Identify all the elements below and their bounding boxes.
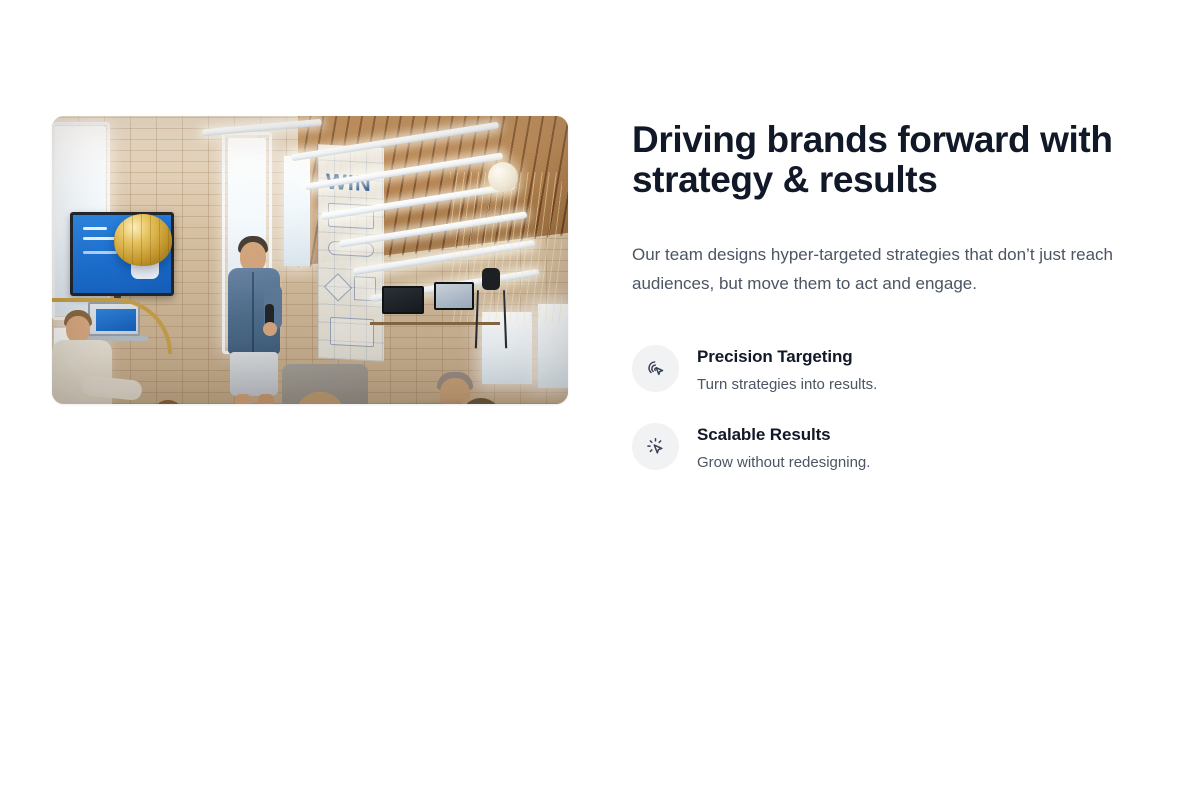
page-title: Driving brands forward with strategy & r… [632,120,1122,200]
hero-image-artwork: WIN [52,116,568,404]
feature-item-scalable-results: Scalable Results Grow without redesignin… [632,423,1148,473]
feature-title: Scalable Results [697,424,870,446]
hero-subheading: Our team designs hyper-targeted strategi… [632,240,1148,298]
feature-item-precision-targeting: Precision Targeting Turn strategies into… [632,345,1148,395]
feature-title: Precision Targeting [697,346,877,368]
feature-description: Turn strategies into results. [697,375,877,395]
hero-image: WIN [52,116,568,404]
feature-text: Precision Targeting Turn strategies into… [697,345,877,395]
hero-section: WIN [52,116,1148,473]
hero-media-column: WIN [52,116,568,404]
feature-text: Scalable Results Grow without redesignin… [697,423,870,473]
cursor-click-icon [632,345,679,392]
cursor-arrow-rays-icon [632,423,679,470]
pendant-lamp [114,214,172,266]
feature-list: Precision Targeting Turn strategies into… [632,345,1148,473]
page-root: WIN [0,0,1200,800]
hero-copy-column: Driving brands forward with strategy & r… [632,116,1148,473]
feature-description: Grow without redesigning. [697,453,870,473]
